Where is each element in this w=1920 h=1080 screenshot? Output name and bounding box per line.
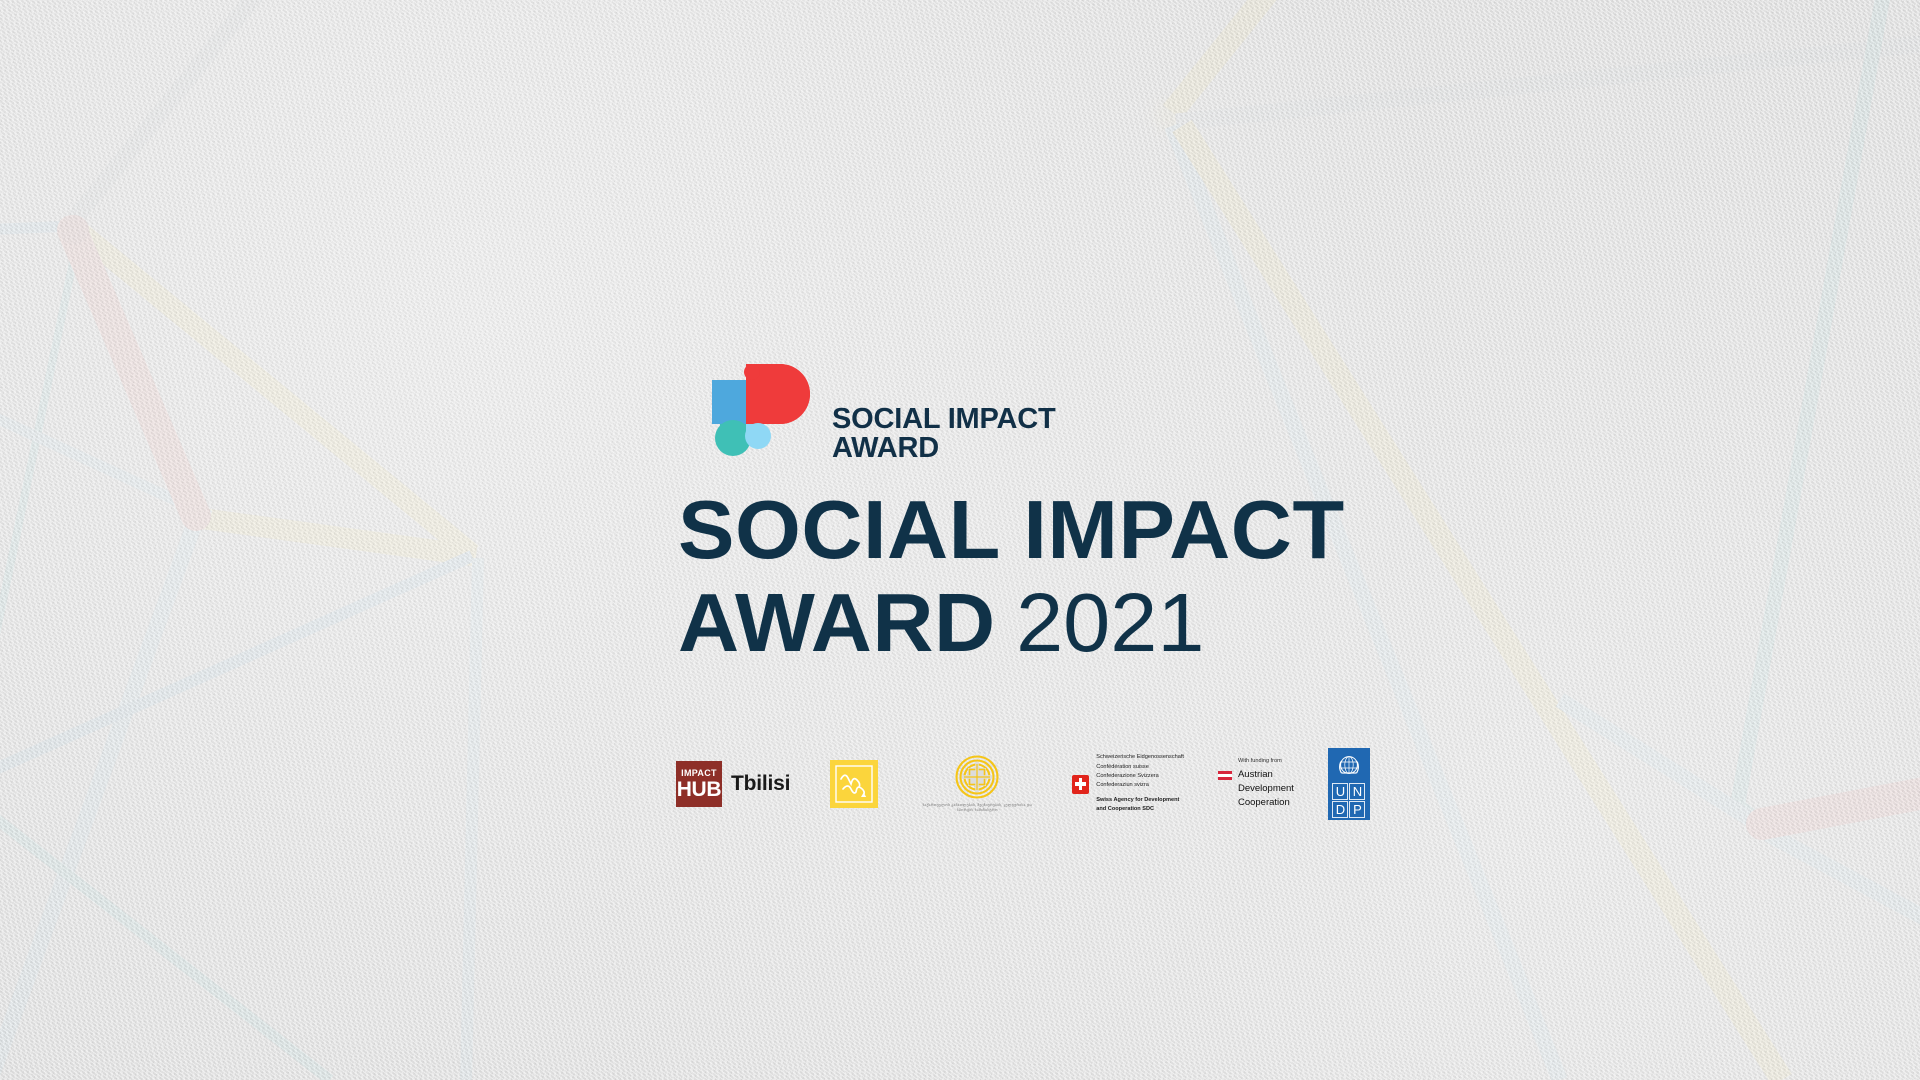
georgian-script-icon: [830, 760, 878, 808]
impact-hub-badge-top: IMPACT: [681, 769, 717, 778]
swiss-cross-shield-icon: [1072, 775, 1089, 794]
sdc-text-block: Schweizerische Eidgenossenschaft Confédé…: [1096, 753, 1184, 814]
headline-award-word: AWARD: [678, 576, 996, 669]
headline-year: 2021: [1016, 576, 1204, 669]
poster-canvas: SOCIAL IMPACT AWARD SOCIAL IMPACT AWARD2…: [0, 0, 1920, 1080]
four-petal-flower-icon: [686, 358, 826, 470]
social-impact-award-logo: SOCIAL IMPACT AWARD: [686, 358, 1438, 470]
un-globe-laurel-emblem: [1334, 751, 1364, 781]
sdc-line-fr: Confédération suisse: [1096, 763, 1184, 772]
adc-name-line-1: Austrian: [1238, 768, 1294, 782]
brand-wordmark-line2: AWARD: [832, 434, 1056, 462]
sdc-line-de: Schweizerische Eidgenossenschaft: [1096, 753, 1184, 762]
sdc-agency-line-2: and Cooperation SDC: [1096, 805, 1184, 814]
austrian-flag-icon: [1218, 771, 1232, 780]
undp-letter-n: N: [1349, 783, 1365, 800]
sdc-agency-line-1: Swiss Agency for Development: [1096, 796, 1184, 805]
impact-hub-badge: IMPACT HUB: [676, 761, 722, 807]
headline-line-1: SOCIAL IMPACT: [678, 488, 1453, 573]
undp-letter-d: D: [1332, 801, 1348, 818]
gold-sunburst-emblem: [955, 755, 999, 799]
tbilisi-city-badge: [830, 760, 878, 808]
adc-name-line-3: Cooperation: [1238, 796, 1294, 810]
adc-name-line-2: Development: [1238, 782, 1294, 796]
logo-swiss-sdc[interactable]: Schweizerische Eidgenossenschaft Confédé…: [1072, 752, 1184, 816]
brand-wordmark: SOCIAL IMPACT AWARD: [832, 405, 1056, 462]
adc-name-block: Austrian Development Cooperation: [1238, 768, 1294, 809]
poster-content: SOCIAL IMPACT AWARD SOCIAL IMPACT AWARD2…: [0, 0, 1920, 1080]
headline-line-2: AWARD2021: [678, 581, 1453, 666]
brand-wordmark-line1: SOCIAL IMPACT: [832, 405, 1056, 433]
impact-hub-badge-bottom: HUB: [677, 779, 722, 800]
undp-letters: U N D P: [1332, 783, 1365, 818]
logo-undp[interactable]: U N D P: [1328, 752, 1370, 816]
ministry-caption: საქართველოს განათლების, მეცნიერების, კულ…: [918, 803, 1036, 814]
sdc-line-rm: Confederaziun svizra: [1096, 781, 1184, 790]
partner-logo-strip: IMPACT HUB Tbilisi: [676, 752, 1370, 816]
logo-austrian-development-cooperation[interactable]: With funding from Austrian Development C…: [1218, 752, 1294, 816]
undp-badge: U N D P: [1328, 748, 1370, 820]
logo-ministry-of-education[interactable]: საქართველოს განათლების, მეცნიერების, კულ…: [918, 752, 1036, 816]
undp-letter-p: P: [1349, 801, 1365, 818]
center-lockup: SOCIAL IMPACT AWARD SOCIAL IMPACT AWARD2…: [678, 358, 1438, 665]
adc-funding-note: With funding from: [1238, 758, 1282, 764]
impact-hub-city-label: Tbilisi: [731, 772, 790, 796]
sdc-line-it: Confederazione Svizzera: [1096, 772, 1184, 781]
undp-letter-u: U: [1332, 783, 1348, 800]
logo-tbilisi-city-hall[interactable]: [830, 752, 878, 816]
logo-impact-hub-tbilisi[interactable]: IMPACT HUB Tbilisi: [676, 752, 790, 816]
